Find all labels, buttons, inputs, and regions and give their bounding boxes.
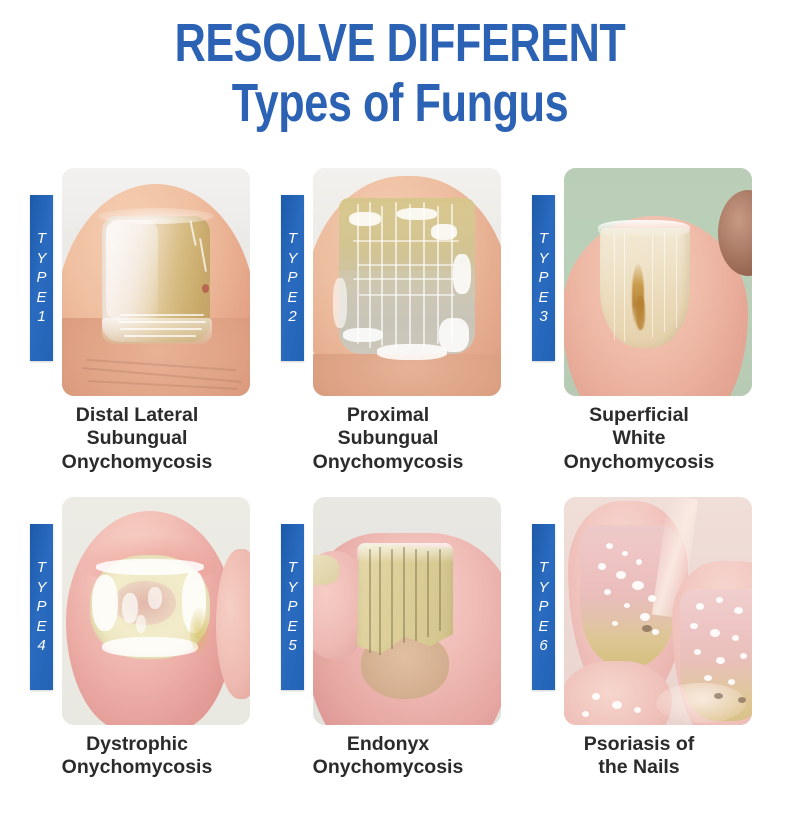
caption-1: Distal Lateral Subungual Onychomycosis xyxy=(12,404,262,474)
photo-card-5 xyxy=(313,497,501,725)
fungus-type-card-2[interactable]: T Y P E 2 Proximal Subungual Onychomycos… xyxy=(263,168,513,497)
caption-1-line-0: Distal Lateral xyxy=(12,404,262,427)
page-title: RESOLVE DIFFERENT Types of Fungus xyxy=(0,16,800,130)
caption-3: Superficial White Onychomycosis xyxy=(514,404,764,474)
page-title-line-2: Types of Fungus xyxy=(80,76,720,130)
type-tab-6: T Y P E 6 xyxy=(532,524,555,690)
caption-2: Proximal Subungual Onychomycosis xyxy=(263,404,513,474)
photo-card-4 xyxy=(62,497,250,725)
caption-4-line-1: Onychomycosis xyxy=(12,756,262,779)
caption-2-line-1: Subungual xyxy=(263,427,513,450)
type-tab-2-letter-4: 2 xyxy=(288,307,296,327)
type-tab-5-letter-2: P xyxy=(287,597,297,617)
type-tab-2: T Y P E 2 xyxy=(281,195,304,361)
caption-4-line-0: Dystrophic xyxy=(12,733,262,756)
type-tab-4-letter-3: E xyxy=(36,617,46,637)
type-tab-3-letter-4: 3 xyxy=(539,307,547,327)
type-tab-2-letter-2: P xyxy=(287,268,297,288)
caption-5-line-1: Onychomycosis xyxy=(263,756,513,779)
type-tab-2-letter-1: Y xyxy=(287,249,297,269)
type-tab-2-letter-0: T xyxy=(288,229,297,249)
type-tab-3: T Y P E 3 xyxy=(532,195,555,361)
type-tab-5-letter-4: 5 xyxy=(288,636,296,656)
caption-4: Dystrophic Onychomycosis xyxy=(12,733,262,780)
type-tab-3-letter-0: T xyxy=(539,229,548,249)
type-tab-4-letter-2: P xyxy=(36,597,46,617)
type-tab-4-letter-1: Y xyxy=(36,578,46,598)
type-tab-5-letter-3: E xyxy=(287,617,297,637)
type-tab-5-letter-1: Y xyxy=(287,578,297,598)
type-tab-1-letter-3: E xyxy=(36,288,46,308)
photo-card-3 xyxy=(564,168,752,396)
endonyx-onychomycosis-photo xyxy=(313,497,501,725)
fungus-type-card-4[interactable]: T Y P E 4 Dystrophic Onychomycosis xyxy=(12,497,262,826)
type-tab-4-letter-4: 4 xyxy=(37,636,45,656)
type-tab-6-letter-3: E xyxy=(538,617,548,637)
type-tab-4: T Y P E 4 xyxy=(30,524,53,690)
type-tab-1-letter-4: 1 xyxy=(37,307,45,327)
caption-3-line-2: Onychomycosis xyxy=(514,451,764,474)
page-title-line-1: RESOLVE DIFFERENT xyxy=(80,16,720,70)
photo-card-1 xyxy=(62,168,250,396)
dystrophic-onychomycosis-photo xyxy=(62,497,250,725)
caption-3-line-0: Superficial xyxy=(514,404,764,427)
type-tab-5: T Y P E 5 xyxy=(281,524,304,690)
psoriasis-of-the-nails-photo xyxy=(564,497,752,725)
photo-card-6 xyxy=(564,497,752,725)
caption-6-line-0: Psoriasis of xyxy=(514,733,764,756)
type-tab-5-letter-0: T xyxy=(288,558,297,578)
superficial-white-onychomycosis-photo xyxy=(564,168,752,396)
type-tab-6-letter-1: Y xyxy=(538,578,548,598)
type-tab-1-letter-0: T xyxy=(37,229,46,249)
distal-lateral-subungual-onychomycosis-photo xyxy=(62,168,250,396)
type-tab-1: T Y P E 1 xyxy=(30,195,53,361)
fungus-type-card-5[interactable]: T Y P E 5 Endonyx Onychomycosis xyxy=(263,497,513,826)
grid-row-1: T Y P E 1 Distal Lateral Subungual Onych… xyxy=(0,168,800,497)
grid-row-2: T Y P E 4 Dystrophic Onychomycosis xyxy=(0,497,800,826)
caption-6-line-1: the Nails xyxy=(514,756,764,779)
caption-5: Endonyx Onychomycosis xyxy=(263,733,513,780)
fungus-type-card-1[interactable]: T Y P E 1 Distal Lateral Subungual Onych… xyxy=(12,168,262,497)
type-tab-6-letter-2: P xyxy=(538,597,548,617)
type-tab-3-letter-1: Y xyxy=(538,249,548,269)
caption-1-line-2: Onychomycosis xyxy=(12,451,262,474)
type-tab-1-letter-1: Y xyxy=(36,249,46,269)
type-tab-4-letter-0: T xyxy=(37,558,46,578)
caption-6: Psoriasis of the Nails xyxy=(514,733,764,780)
caption-2-line-0: Proximal xyxy=(263,404,513,427)
photo-card-2 xyxy=(313,168,501,396)
type-tab-2-letter-3: E xyxy=(287,288,297,308)
type-tab-3-letter-2: P xyxy=(538,268,548,288)
type-tab-3-letter-3: E xyxy=(538,288,548,308)
caption-3-line-1: White xyxy=(514,427,764,450)
type-tab-1-letter-2: P xyxy=(36,268,46,288)
type-tab-6-letter-4: 6 xyxy=(539,636,547,656)
fungus-type-card-3[interactable]: T Y P E 3 Superficial White Onychomycosi… xyxy=(514,168,764,497)
fungus-type-grid: T Y P E 1 Distal Lateral Subungual Onych… xyxy=(0,168,800,826)
fungus-type-card-6[interactable]: T Y P E 6 Psoriasis of the Nails xyxy=(514,497,764,826)
type-tab-6-letter-0: T xyxy=(539,558,548,578)
caption-5-line-0: Endonyx xyxy=(263,733,513,756)
caption-2-line-2: Onychomycosis xyxy=(263,451,513,474)
proximal-subungual-onychomycosis-photo xyxy=(313,168,501,396)
caption-1-line-1: Subungual xyxy=(12,427,262,450)
